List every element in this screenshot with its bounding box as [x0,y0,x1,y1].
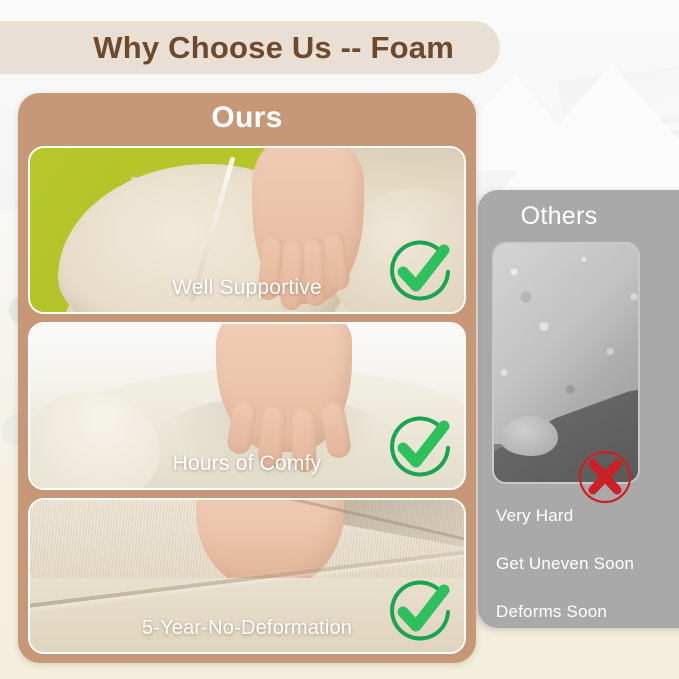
ours-panel: Ours Well Supportive [18,93,476,663]
page-title: Why Choose Us -- Foam [93,30,454,66]
list-item: Get Uneven Soon [496,554,679,574]
red-x-icon [576,448,634,506]
green-check-icon [384,576,456,648]
list-item: Deforms Soon [496,602,679,622]
ours-title: Ours [18,101,476,135]
ours-feature-card-2: Hours of Comfy [28,322,466,490]
list-item: Very Hard [496,506,679,526]
others-foam-crumb [500,416,558,456]
ours-feature-card-1: Well Supportive [28,146,466,314]
infographic-root: Why Choose Us -- Foam Others Very Hard G… [0,0,679,679]
finger [291,408,316,472]
background-gable-right [500,64,679,192]
others-title: Others [478,202,640,231]
green-check-icon [384,412,456,484]
title-banner: Why Choose Us -- Foam [0,21,500,74]
others-drawback-list: Very Hard Get Uneven Soon Deforms Soon [496,506,679,650]
green-check-icon [384,236,456,308]
others-panel: Others Very Hard Get Uneven Soon Deforms… [478,190,679,628]
ours-feature-card-3: 5-Year-No-Deformation [28,498,466,654]
finger [280,239,305,310]
finger [303,238,326,307]
